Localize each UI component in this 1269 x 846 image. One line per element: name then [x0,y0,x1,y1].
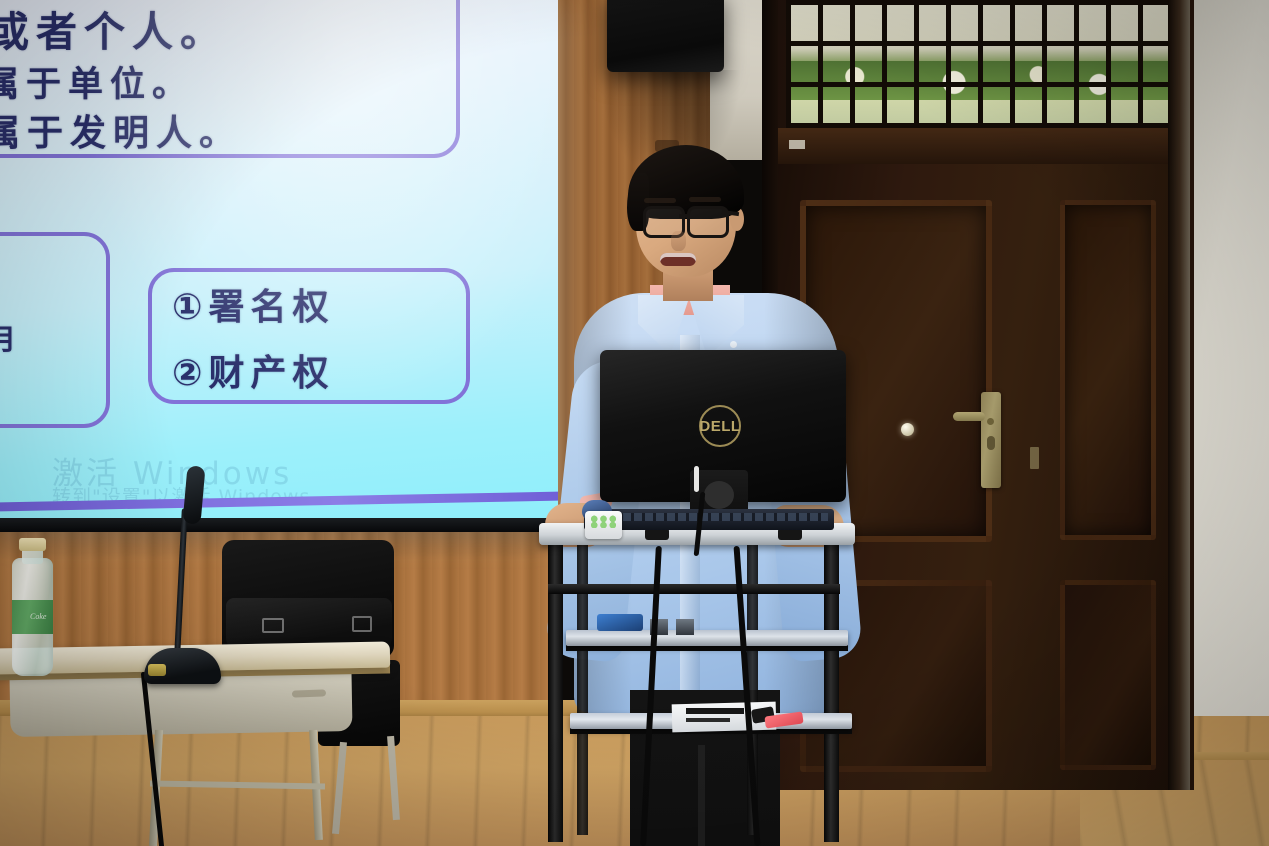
desk-scuff [292,689,326,697]
presenter-mouth [660,253,696,266]
remote-buttons[interactable] [589,515,618,528]
door-handle-icon[interactable] [953,412,985,421]
ceiling-speaker-icon [607,0,724,72]
cart-mid-shelf [566,630,848,646]
slide-left-box-text: 月 [0,318,18,358]
door-lock-button[interactable] [987,418,994,425]
grey-device-b [676,619,694,635]
slide-line-2: 属于单位。 [0,56,194,107]
bottle-cap [19,538,46,551]
trouser-seam [698,745,705,846]
window-grille-icon [786,0,1168,128]
slide-right-item-2: ②财产权 [172,344,334,396]
monitor-stand-cable-hole [704,481,734,509]
white-cable [694,466,699,492]
screen-bottom-frame [0,518,560,532]
bottle-brand-text: Coke [30,612,46,621]
bag-buckle-left [262,618,284,633]
door-sticker [1030,447,1039,469]
blue-device [597,614,643,631]
shirt-pocket-button [730,341,737,348]
door-jamb-right [1168,0,1190,790]
slide-right-item-1: ①署名权 [172,278,334,330]
handout-text-line [686,708,744,714]
bag-buckle-right [352,616,372,632]
door-panel-lower-right [1060,580,1156,770]
slide-line-3: 属于发明人。 [0,104,242,156]
transom-window [786,0,1168,128]
projection-screen: 或者个人。 属于单位。 属于发明人。 月 ①署名权 ②财产权 激活 Window… [0,0,558,524]
lecture-hall-photo: 或者个人。 属于单位。 属于发明人。 月 ①署名权 ②财产权 激活 Window… [0,0,1269,846]
keyhole-icon [987,436,995,450]
presenter-nose [671,231,686,251]
eyebrow-left [644,198,676,203]
eyebrow-right [689,197,721,202]
microphone-connector [148,664,166,676]
keyboard-keys[interactable] [590,513,828,521]
door-stud [901,423,914,436]
handout-text-line [686,718,730,722]
cart-crossbar [548,584,840,594]
glasses-bridge [679,214,689,218]
right-wall [1184,0,1269,780]
slide-line-1: 或者个人。 [0,0,228,58]
dell-logo-icon: DELL [699,405,741,447]
door-panel-upper-right [1060,200,1156,540]
